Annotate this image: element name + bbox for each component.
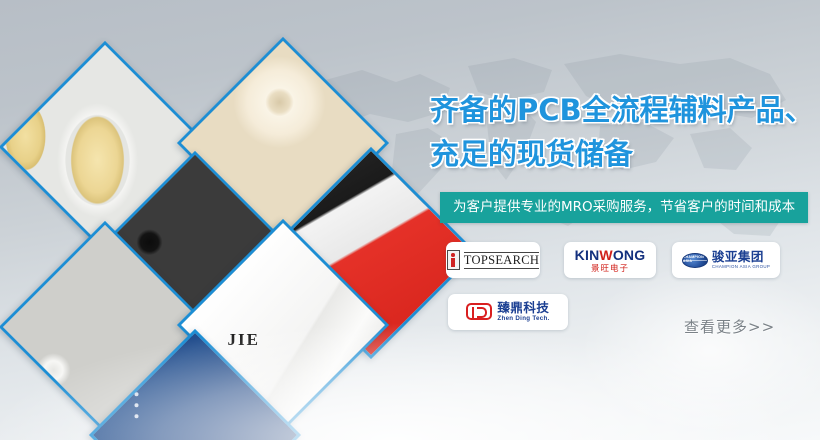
kinwong-word-part-w: W	[599, 247, 612, 263]
client-logo-champion-asia[interactable]: CHAMPION ASIA 骏亚集团 CHAMPION ASIA GROUP	[672, 242, 780, 278]
topsearch-wordmark: TOPSEARCH	[464, 252, 539, 269]
kinwong-wordmark: KINWONG	[575, 248, 646, 262]
zd-monogram-icon	[466, 303, 492, 320]
kinwong-word-part-2: ONG	[613, 247, 646, 263]
view-more-link[interactable]: 查看更多>>	[684, 316, 775, 337]
headline-line-2: 充足的现货储备	[430, 132, 820, 176]
client-logo-topsearch[interactable]: TOPSEARCH	[446, 242, 540, 278]
product-collage: JIE	[0, 0, 430, 440]
champion-asia-english-name: CHAMPION ASIA GROUP	[712, 265, 770, 269]
zhen-ding-chinese-name: 臻鼎科技	[497, 302, 549, 315]
promo-banner: JIE 齐备的PCB全流程辅料产品、 充足的现货储备 为客户提供专业的MRO采购…	[0, 0, 820, 440]
banner-headline: 齐备的PCB全流程辅料产品、 充足的现货储备	[430, 88, 820, 176]
zhen-ding-english-name: Zhen Ding Tech.	[497, 316, 549, 322]
client-logo-zhen-ding[interactable]: 臻鼎科技 Zhen Ding Tech.	[448, 294, 568, 330]
topsearch-mark-icon	[447, 250, 460, 270]
kinwong-word-part-1: KIN	[575, 247, 600, 263]
globe-icon-label: CHAMPION ASIA	[683, 256, 707, 263]
banner-subtitle-bar: 为客户提供专业的MRO采购服务，节省客户的时间和成本	[440, 192, 808, 223]
kinwong-chinese-name: 景旺电子	[575, 264, 646, 273]
release-paper-brand-text: JIE	[228, 330, 260, 350]
headline-line-1: 齐备的PCB全流程辅料产品、	[430, 93, 814, 127]
client-logo-kinwong[interactable]: KINWONG 景旺电子	[564, 242, 656, 278]
champion-asia-chinese-name: 骏亚集团	[712, 251, 770, 264]
globe-icon: CHAMPION ASIA	[682, 253, 708, 268]
